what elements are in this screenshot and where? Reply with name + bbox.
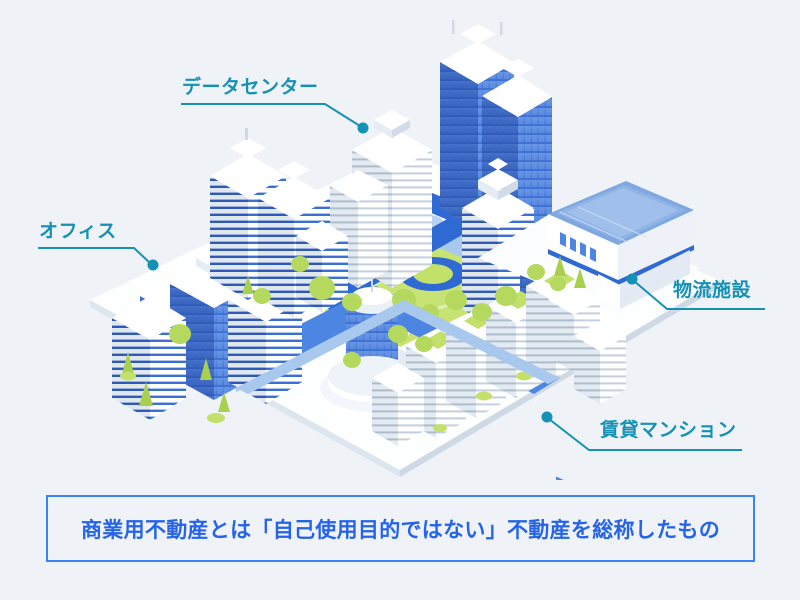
callout-dot-rental-apartment [542,412,553,423]
caption-text: 商業用不動産とは「自己使用目的ではない」不動産を総称したもの [81,514,720,544]
caption-box: 商業用不動産とは「自己使用目的ではない」不動産を総称したもの [46,495,755,562]
illustration-canvas: データセンター オフィス 物流施設 賃貸マンション 商業用不動産とは「自己使用目… [0,0,800,600]
